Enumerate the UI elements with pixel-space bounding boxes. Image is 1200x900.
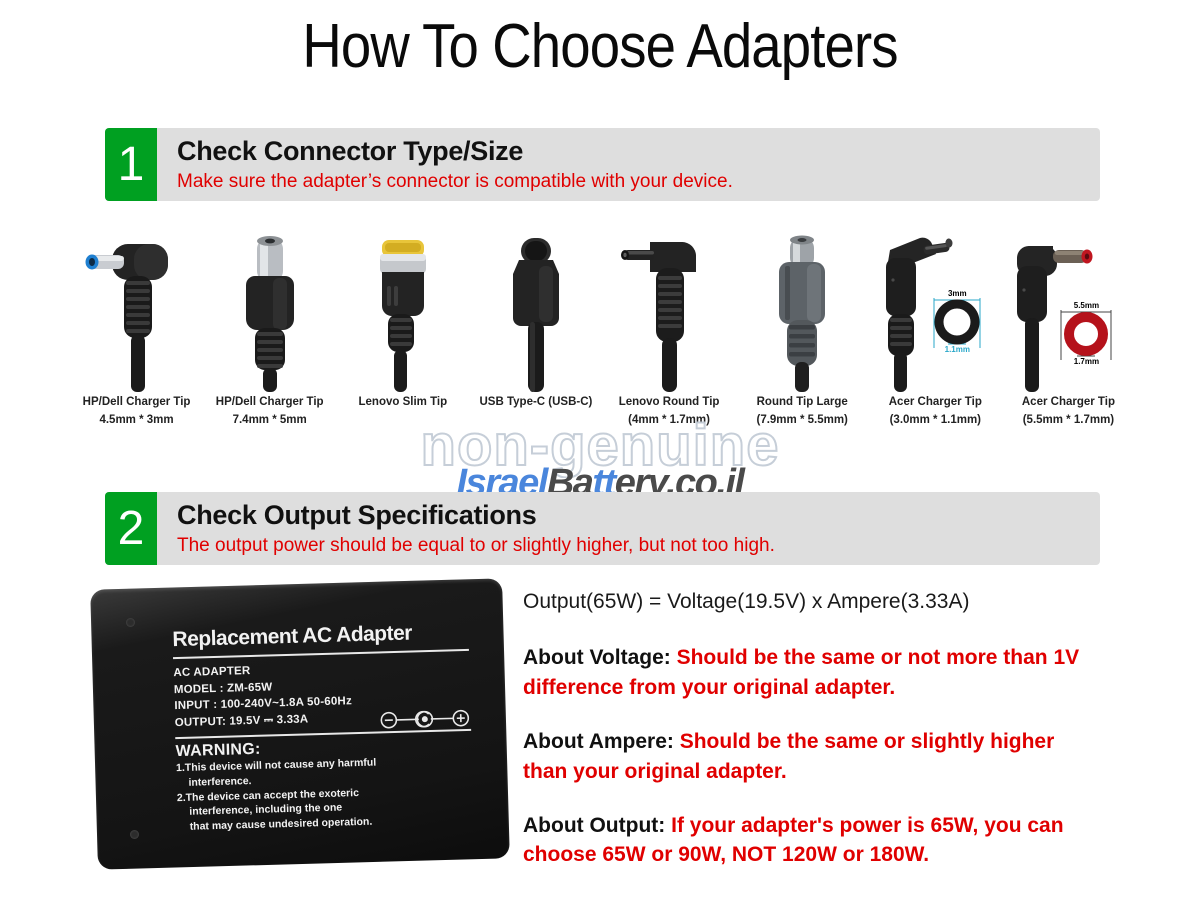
connector-name: Lenovo Slim Tip [359, 396, 448, 408]
acer-right-angle-red-tip-connector-icon: 5.5mm 1.7mm [1003, 232, 1133, 392]
connector-label: HP/Dell Charger Tip 4.5mm * 3mm [83, 394, 191, 430]
connector-name: Round Tip Large [757, 396, 848, 408]
connector-label: Lenovo Slim Tip [359, 394, 448, 412]
connector-label: USB Type-C (USB-C) [480, 394, 593, 412]
connector-name: Lenovo Round Tip [619, 396, 720, 408]
step-1-number: 1 [105, 128, 157, 201]
step-2-header: 2 Check Output Specifications The output… [105, 492, 1100, 565]
connector-item-lenovo-slim: Lenovo Slim Tip [336, 232, 469, 442]
connector-size: (3.0mm * 1.1mm) [890, 414, 981, 426]
page-title: How To Choose Adapters [72, 0, 1128, 78]
output-spec-text-column: Output(65W) = Voltage(19.5V) x Ampere(3.… [523, 588, 1083, 894]
ring-outer-dimension: 3mm [934, 289, 980, 298]
spec-key: About Voltage: [523, 646, 671, 669]
output-equation: Output(65W) = Voltage(19.5V) x Ampere(3.… [523, 588, 1083, 615]
connector-size: (4mm * 1.7mm) [628, 414, 710, 426]
ring-dimension-diagram [1061, 310, 1111, 360]
grey-straight-barrel-connector-icon [737, 232, 867, 392]
spec-key: About Output: [523, 814, 665, 837]
usb-type-c-connector-icon [471, 232, 601, 392]
spec-key: About Ampere: [523, 730, 674, 753]
connector-item-lenovo-round: Lenovo Round Tip (4mm * 1.7mm) [603, 232, 736, 442]
connector-label: Round Tip Large (7.9mm * 5.5mm) [756, 394, 847, 430]
connector-name: Acer Charger Tip [889, 396, 982, 408]
screw-dot [126, 618, 135, 627]
right-angle-barrel-blue-tip-connector-icon [72, 232, 202, 392]
connector-label: Acer Charger Tip (5.5mm * 1.7mm) [1022, 394, 1115, 430]
connector-item-usb-c: USB Type-C (USB-C) [469, 232, 602, 442]
connector-item-hp-dell-7.4mm: HP/Dell Charger Tip 7.4mm * 5mm [203, 232, 336, 442]
connector-size: 7.4mm * 5mm [233, 414, 307, 426]
step-1-text: Check Connector Type/Size Make sure the … [157, 128, 733, 201]
screw-dot [130, 830, 139, 839]
spec-about-ampere: About Ampere: Should be the same or slig… [523, 727, 1083, 787]
connector-item-acer-3.0mm: 3mm 1.1mm Acer Charger Tip (3.0mm * 1.1m… [869, 232, 1002, 442]
adapter-warning-body: 1.This device will not cause any harmful… [176, 753, 474, 836]
right-angle-thin-barrel-connector-icon [604, 232, 734, 392]
ring-inner-dimension: 1.7mm [1057, 357, 1115, 366]
adapter-label-title: Replacement AC Adapter [172, 620, 469, 652]
connector-size: 4.5mm * 3mm [99, 414, 173, 426]
connector-size: (5.5mm * 1.7mm) [1023, 414, 1114, 426]
straight-barrel-silver-tip-connector-icon [205, 232, 335, 392]
acer-right-angle-small-connector-icon: 3mm 1.1mm [870, 232, 1000, 392]
step-2-number: 2 [105, 492, 157, 565]
step-2-text: Check Output Specifications The output p… [157, 492, 775, 565]
connector-label: Acer Charger Tip (3.0mm * 1.1mm) [889, 394, 982, 430]
connector-label: HP/Dell Charger Tip 7.4mm * 5mm [216, 394, 324, 430]
ring-inner-dimension: 1.1mm [928, 345, 986, 354]
step-1-title: Check Connector Type/Size [177, 136, 733, 168]
step-1-header: 1 Check Connector Type/Size Make sure th… [105, 128, 1100, 201]
ring-outer-dimension: 5.5mm [1061, 301, 1111, 310]
spec-about-output: About Output: If your adapter's power is… [523, 811, 1083, 871]
step-2-subtitle: The output power should be equal to or s… [177, 534, 775, 558]
connector-name: Acer Charger Tip [1022, 396, 1115, 408]
connector-gallery: HP/Dell Charger Tip 4.5mm * 3mm [70, 232, 1135, 442]
connector-name: HP/Dell Charger Tip [216, 396, 324, 408]
connector-label: Lenovo Round Tip (4mm * 1.7mm) [619, 394, 720, 430]
connector-item-round-large: Round Tip Large (7.9mm * 5.5mm) [736, 232, 869, 442]
adapter-spec-label: Replacement AC Adapter AC ADAPTER MODEL … [164, 614, 482, 841]
connector-size: (7.9mm * 5.5mm) [756, 414, 847, 426]
ring-dimension-diagram [934, 298, 980, 348]
connector-item-acer-5.5mm: 5.5mm 1.7mm Acer Charger Tip (5.5mm * 1.… [1002, 232, 1135, 442]
spec-about-voltage: About Voltage: Should be the same or not… [523, 643, 1083, 703]
polarity-symbol-icon [377, 708, 474, 731]
connector-item-hp-dell-4.5mm: HP/Dell Charger Tip 4.5mm * 3mm [70, 232, 203, 442]
ac-adapter-photo: Replacement AC Adapter AC ADAPTER MODEL … [92, 578, 512, 873]
connector-name: HP/Dell Charger Tip [83, 396, 191, 408]
rectangular-yellow-slim-tip-connector-icon [338, 232, 468, 392]
step-2-title: Check Output Specifications [177, 500, 775, 532]
connector-name: USB Type-C (USB-C) [480, 396, 593, 408]
step-1-subtitle: Make sure the adapter’s connector is com… [177, 170, 733, 194]
